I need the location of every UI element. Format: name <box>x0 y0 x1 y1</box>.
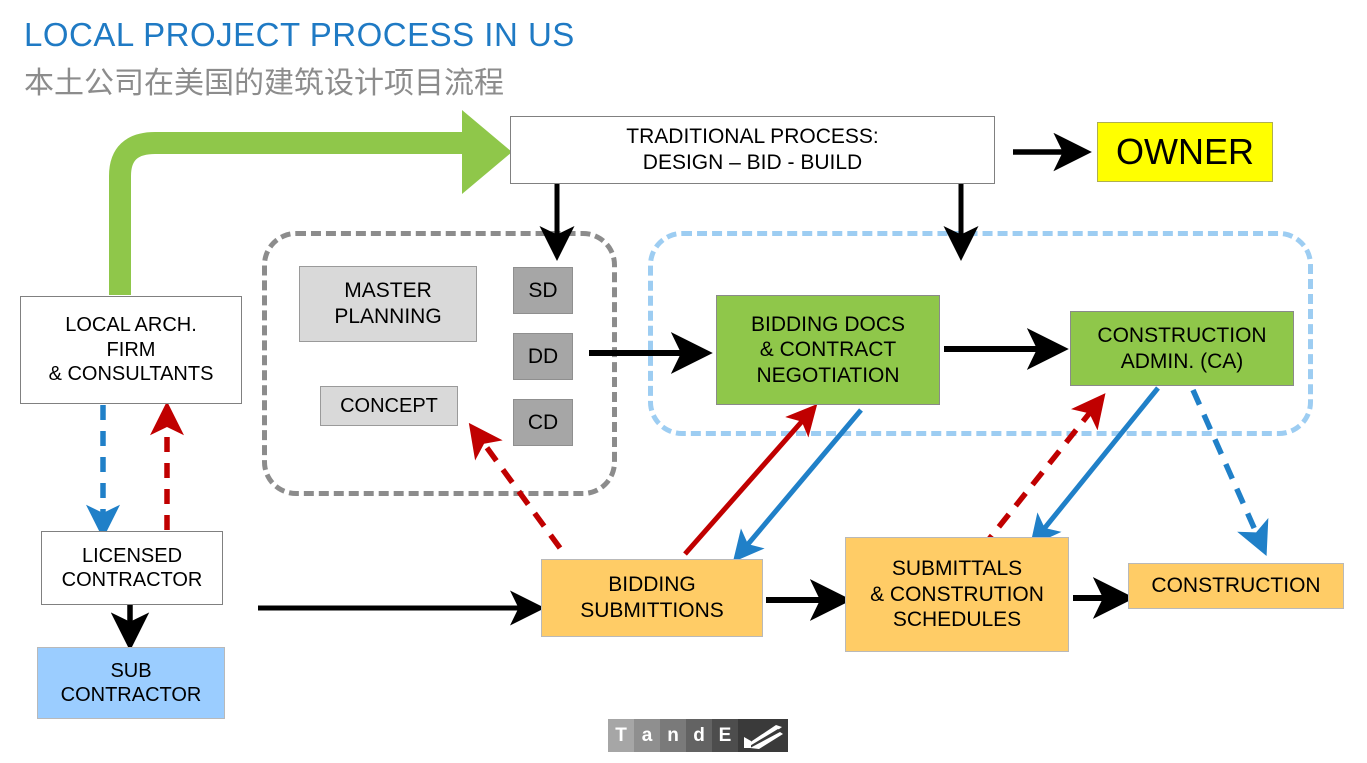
owner-label: OWNER <box>1098 130 1272 174</box>
brand-logo: T a n d E <box>608 719 788 752</box>
bidding-submissions-line1: BIDDING <box>542 572 762 598</box>
arrow-bidding-to-design-red <box>474 430 560 548</box>
cd-label: CD <box>514 410 572 436</box>
licensed-contractor-line1: LICENSED <box>42 544 222 568</box>
traditional-process-line2: DESIGN – BID - BUILD <box>511 150 994 176</box>
local-arch-line3: & CONSULTANTS <box>21 362 241 386</box>
arrow-ca-to-construction-blue <box>1193 390 1263 548</box>
construction-admin-line2: ADMIN. (CA) <box>1071 349 1293 375</box>
node-owner[interactable]: OWNER <box>1097 122 1273 182</box>
building-icon <box>738 719 788 752</box>
bidding-docs-line3: NEGOTIATION <box>717 363 939 389</box>
bidding-docs-line2: & CONTRACT <box>717 337 939 363</box>
construction-admin-line1: CONSTRUCTION <box>1071 323 1293 349</box>
bidding-docs-line1: BIDDING DOCS <box>717 312 939 338</box>
local-arch-line1: LOCAL ARCH. <box>21 313 241 337</box>
traditional-process-line1: TRADITIONAL PROCESS: <box>511 124 994 150</box>
slide-canvas: LOCAL PROJECT PROCESS IN US 本土公司在美国的建筑设计… <box>0 0 1367 763</box>
arrow-bidding-to-biddingdocs-red <box>685 410 812 554</box>
node-dd[interactable]: DD <box>513 333 573 380</box>
node-sub-contractor[interactable]: SUB CONTRACTOR <box>37 647 225 719</box>
logo-letter-1: a <box>634 719 660 752</box>
submittals-line2: & CONSTRUTION <box>846 582 1068 608</box>
node-bidding-submissions[interactable]: BIDDING SUBMITTIONS <box>541 559 763 637</box>
master-planning-line1: MASTER <box>300 278 476 304</box>
sd-label: SD <box>514 278 572 304</box>
node-sd[interactable]: SD <box>513 267 573 314</box>
node-master-planning[interactable]: MASTER PLANNING <box>299 266 477 342</box>
submittals-line3: SCHEDULES <box>846 607 1068 633</box>
arrow-submittals-to-ca-red <box>982 400 1100 548</box>
licensed-contractor-line2: CONTRACTOR <box>42 568 222 592</box>
arrow-biddingdocs-to-bidding-blue <box>738 410 861 556</box>
node-licensed-contractor[interactable]: LICENSED CONTRACTOR <box>41 531 223 605</box>
sub-contractor-line2: CONTRACTOR <box>38 683 224 707</box>
node-local-arch-firm[interactable]: LOCAL ARCH. FIRM & CONSULTANTS <box>20 296 242 404</box>
bidding-submissions-line2: SUBMITTIONS <box>542 598 762 624</box>
logo-letter-3: d <box>686 719 712 752</box>
logo-letter-4: E <box>712 719 738 752</box>
dd-label: DD <box>514 344 572 370</box>
arrow-ca-to-submittals-blue <box>1035 388 1158 540</box>
node-concept[interactable]: CONCEPT <box>320 386 458 426</box>
sub-contractor-line1: SUB <box>38 659 224 683</box>
node-submittals-schedules[interactable]: SUBMITTALS & CONSTRUTION SCHEDULES <box>845 537 1069 652</box>
node-construction-admin[interactable]: CONSTRUCTION ADMIN. (CA) <box>1070 311 1294 386</box>
node-traditional-process[interactable]: TRADITIONAL PROCESS: DESIGN – BID - BUIL… <box>510 116 995 184</box>
local-arch-line2: FIRM <box>21 338 241 362</box>
node-construction[interactable]: CONSTRUCTION <box>1128 563 1344 609</box>
node-cd[interactable]: CD <box>513 399 573 446</box>
node-bidding-docs-contract[interactable]: BIDDING DOCS & CONTRACT NEGOTIATION <box>716 295 940 405</box>
construction-label: CONSTRUCTION <box>1129 573 1343 599</box>
concept-label: CONCEPT <box>321 394 457 418</box>
logo-letter-0: T <box>608 719 634 752</box>
logo-letter-2: n <box>660 719 686 752</box>
submittals-line1: SUBMITTALS <box>846 556 1068 582</box>
master-planning-line2: PLANNING <box>300 304 476 330</box>
